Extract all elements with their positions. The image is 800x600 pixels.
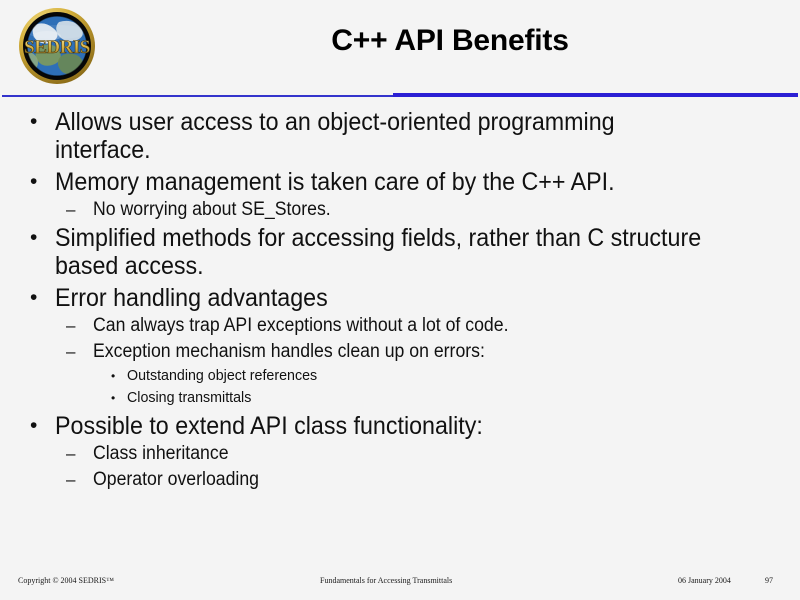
bullet-level2: – Exception mechanism handles clean up o… [0, 340, 800, 364]
bullet-text: Outstanding object references [127, 366, 728, 386]
bullet-level2: – No worrying about SE_Stores. [0, 198, 800, 222]
slide-body: • Allows user access to an object-orient… [0, 108, 800, 548]
bullet-text: Closing transmittals [127, 388, 728, 408]
bullet-text: Error handling advantages [55, 284, 711, 312]
bullet-text: Class inheritance [93, 442, 713, 466]
footer-date: 06 January 2004 [678, 576, 731, 585]
bullet-marker: • [30, 224, 37, 252]
title-divider-left [2, 95, 393, 97]
bullet-level1: • Allows user access to an object-orient… [0, 108, 800, 164]
slide-title: C++ API Benefits [120, 22, 780, 60]
bullet-text: Simplified methods for accessing fields,… [55, 224, 711, 280]
bullet-marker: • [111, 388, 115, 408]
bullet-text: Allows user access to an object-oriented… [55, 108, 711, 164]
bullet-marker: – [66, 314, 75, 338]
bullet-text: Can always trap API exceptions without a… [93, 314, 713, 338]
footer-copyright: Copyright © 2004 SEDRIS™ [18, 576, 114, 585]
bullet-level3: • Closing transmittals [0, 388, 800, 408]
bullet-level2: – Can always trap API exceptions without… [0, 314, 800, 338]
slide-canvas: SEDRIS C++ API Benefits • Allows user ac… [0, 0, 800, 600]
bullet-marker: • [30, 108, 37, 136]
bullet-text: Operator overloading [93, 468, 713, 492]
bullet-text: Exception mechanism handles clean up on … [93, 340, 713, 364]
bullet-text: Memory management is taken care of by th… [55, 168, 711, 196]
bullet-marker: • [30, 284, 37, 312]
bullet-text: Possible to extend API class functionali… [55, 412, 711, 440]
footer-document-title: Fundamentals for Accessing Transmittals [320, 576, 452, 585]
bullet-level1: • Simplified methods for accessing field… [0, 224, 800, 280]
bullet-marker: • [30, 412, 37, 440]
bullet-marker: • [111, 366, 115, 386]
bullet-marker: – [66, 468, 75, 492]
bullet-level3: • Outstanding object references [0, 366, 800, 386]
bullet-level2: – Operator overloading [0, 468, 800, 492]
footer-page-number: 97 [765, 576, 773, 585]
bullet-level1: • Error handling advantages [0, 284, 800, 312]
bullet-level2: – Class inheritance [0, 442, 800, 466]
bullet-level1: • Possible to extend API class functiona… [0, 412, 800, 440]
slide-footer: Copyright © 2004 SEDRIS™ Fundamentals fo… [0, 572, 800, 592]
sedris-wordmark: SEDRIS [24, 37, 90, 58]
bullet-marker: • [30, 168, 37, 196]
sedris-logo: SEDRIS [7, 6, 108, 86]
title-divider-right [393, 93, 798, 97]
bullet-marker: – [66, 442, 75, 466]
bullet-text: No worrying about SE_Stores. [93, 198, 713, 222]
bullet-marker: – [66, 340, 75, 364]
bullet-level1: • Memory management is taken care of by … [0, 168, 800, 196]
bullet-marker: – [66, 198, 75, 222]
